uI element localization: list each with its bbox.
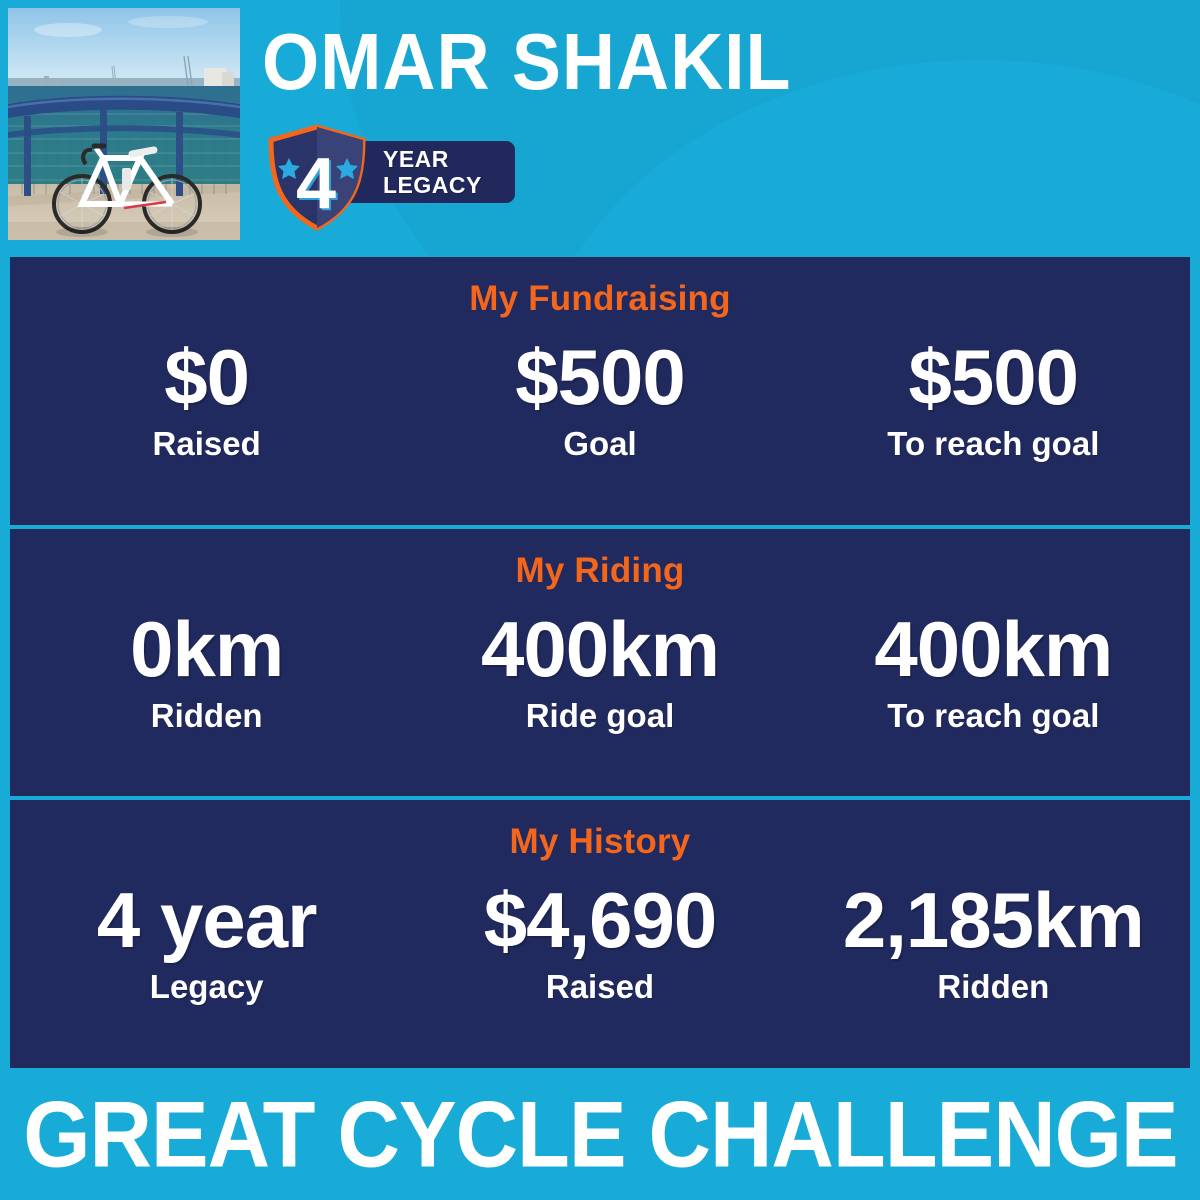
stat-value: $4,690 [484,874,717,966]
section-title-history: My History [510,822,691,862]
stat-value: $0 [164,331,249,423]
stat-value: 400km [481,603,719,695]
stat-ride-goal: 400km Ride goal [403,599,796,797]
section-title-riding: My Riding [515,551,684,591]
stat-value: 4 year [97,874,317,966]
stat-label: Ride goal [526,697,675,735]
section-riding: My Riding 0km Ridden 400km Ride goal 400… [10,525,1190,797]
stat-to-reach-goal: $500 To reach goal [797,327,1190,525]
brand-logo-text: GREAT CYCLE CHALLENGE [23,1080,1177,1189]
section-title-fundraising: My Fundraising [469,279,730,319]
stat-value: 400km [874,603,1112,695]
stat-goal: $500 Goal [403,327,796,525]
legacy-badge: YEAR LEGACY 4 4 [263,124,513,234]
section-history: My History 4 year Legacy $4,690 Raised 2… [10,796,1190,1068]
footer: GREAT CYCLE CHALLENGE [0,1068,1200,1200]
stat-label: Goal [563,425,636,463]
stats-row-history: 4 year Legacy $4,690 Raised 2,185km Ridd… [10,870,1190,1068]
stat-ride-to-reach-goal: 400km To reach goal [797,599,1190,797]
stat-history-ridden: 2,185km Ridden [797,870,1190,1068]
stat-label: Ridden [151,697,263,735]
stat-label: Raised [153,425,261,463]
legacy-badge-line2: LEGACY [383,172,523,198]
stat-value: 2,185km [843,874,1144,966]
stat-value: $500 [909,331,1079,423]
stat-value: 0km [130,603,283,695]
stat-history-raised: $4,690 Raised [403,870,796,1068]
legacy-badge-line1: YEAR [383,146,523,172]
page-title: OMAR SHAKIL [262,22,791,102]
fundraiser-poster: OMAR SHAKIL YEAR LEGACY 4 4 [0,0,1200,1200]
stat-label: To reach goal [887,697,1099,735]
legacy-badge-number: 4 [296,144,336,224]
header: OMAR SHAKIL YEAR LEGACY 4 4 [0,0,1200,257]
stats-row-riding: 0km Ridden 400km Ride goal 400km To reac… [10,599,1190,797]
stat-label: To reach goal [887,425,1099,463]
rider-photo [8,8,240,240]
stat-raised: $0 Raised [10,327,403,525]
stat-ridden: 0km Ridden [10,599,403,797]
stats-panel: My Fundraising $0 Raised $500 Goal $500 … [0,257,1200,1068]
legacy-badge-text: YEAR LEGACY [383,146,523,198]
stat-label: Raised [546,968,654,1006]
shield-icon: 4 4 [263,124,371,232]
stat-legacy: 4 year Legacy [10,870,403,1068]
stat-value: $500 [515,331,685,423]
section-fundraising: My Fundraising $0 Raised $500 Goal $500 … [10,257,1190,525]
stat-label: Ridden [937,968,1049,1006]
stat-label: Legacy [150,968,264,1006]
stats-row-fundraising: $0 Raised $500 Goal $500 To reach goal [10,327,1190,525]
